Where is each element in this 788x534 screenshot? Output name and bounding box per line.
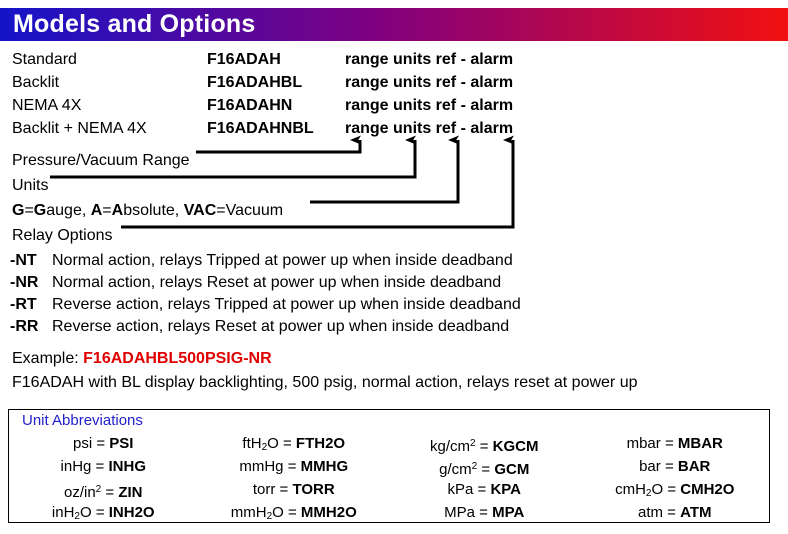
abbreviation-row: cmH2O = CMH2O — [580, 478, 771, 501]
abbreviation-equals: = — [280, 481, 289, 498]
abbreviation-row: psi = PSI — [8, 432, 199, 455]
abbreviation-row: g/cm2 = GCM — [389, 455, 580, 478]
callout-label-list: Pressure/Vacuum RangeUnitsG=Gauge, A=Abs… — [12, 148, 572, 248]
abbreviation-code: INHG — [108, 458, 146, 475]
abbreviation-equals: = — [288, 504, 297, 521]
model-row: NEMA 4XF16ADAHNrange units ref - alarm — [12, 94, 612, 117]
abbreviation-row: inHg = INHG — [8, 455, 199, 478]
example-label: Example: — [12, 350, 83, 367]
abbreviation-equals: = — [479, 504, 488, 521]
callout-row: Pressure/Vacuum Range — [12, 148, 572, 173]
relay-option-code: -NR — [10, 272, 38, 294]
model-description: Backlit + NEMA 4X — [12, 117, 147, 140]
relay-option-text: Reverse action, relays Reset at power up… — [52, 316, 509, 338]
abbreviation-row: torr = TORR — [199, 478, 390, 501]
abbreviation-code: KPA — [490, 481, 521, 498]
relay-option-row: -RTReverse action, relays Tripped at pow… — [10, 294, 710, 316]
model-row: BacklitF16ADAHBLrange units ref - alarm — [12, 71, 612, 94]
abbreviation-code: MBAR — [678, 435, 723, 452]
model-row: StandardF16ADAHrange units ref - alarm — [12, 48, 612, 71]
abbreviation-code: BAR — [678, 458, 711, 475]
abbreviation-code: GCM — [494, 461, 529, 478]
abbreviation-row: ftH2O = FTH2O — [199, 432, 390, 455]
abbreviation-equals: = — [283, 435, 292, 452]
abbreviation-row: atm = ATM — [580, 501, 771, 524]
callout-label: G=Gauge, A=Absolute, VAC=Vacuum — [12, 198, 283, 223]
abbreviation-row: kg/cm2 = KGCM — [389, 432, 580, 455]
abbreviation-unit: mbar — [627, 435, 661, 452]
example-line: Example: F16ADAHBL500PSIG-NR — [12, 350, 272, 368]
page-title: Models and Options — [13, 9, 256, 40]
abbreviation-code: MMH2O — [301, 504, 357, 521]
abbreviation-equals: = — [96, 458, 105, 475]
abbreviation-equals: = — [478, 481, 487, 498]
abbreviation-code: MPA — [492, 504, 524, 521]
model-part-number: F16ADAHBL — [207, 71, 302, 94]
model-suffix: range units ref - alarm — [345, 71, 513, 94]
model-part-number: F16ADAH — [207, 48, 281, 71]
callout-label: Units — [12, 173, 48, 198]
relay-option-code: -RT — [10, 294, 37, 316]
model-suffix: range units ref - alarm — [345, 117, 513, 140]
model-part-number: F16ADAHN — [207, 94, 292, 117]
abbreviation-unit: g/cm2 — [439, 461, 477, 478]
abbreviation-unit: cmH2O — [615, 481, 663, 498]
abbreviation-code: ZIN — [118, 484, 142, 501]
abbreviation-column: psi = PSIinHg = INHGoz/in2 = ZINinH2O = … — [8, 432, 199, 524]
abbreviation-equals: = — [665, 435, 674, 452]
relay-options-list: -NTNormal action, relays Tripped at powe… — [10, 250, 710, 338]
example-description: F16ADAH with BL display backlighting, 50… — [12, 374, 638, 392]
callout-label: Pressure/Vacuum Range — [12, 148, 190, 173]
callout-label: Relay Options — [12, 223, 113, 248]
abbreviation-row: oz/in2 = ZIN — [8, 478, 199, 501]
abbreviation-unit: atm — [638, 504, 663, 521]
abbreviation-column: ftH2O = FTH2OmmHg = MMHGtorr = TORRmmH2O… — [199, 432, 390, 524]
model-table: StandardF16ADAHrange units ref - alarmBa… — [12, 48, 612, 140]
relay-option-text: Reverse action, relays Tripped at power … — [52, 294, 521, 316]
model-suffix: range units ref - alarm — [345, 48, 513, 71]
relay-option-row: -NRNormal action, relays Reset at power … — [10, 272, 710, 294]
relay-option-row: -RRReverse action, relays Reset at power… — [10, 316, 710, 338]
callout-row: Relay Options — [12, 223, 572, 248]
abbreviation-unit: kPa — [447, 481, 473, 498]
abbreviation-code: INH2O — [109, 504, 155, 521]
model-description: Standard — [12, 48, 77, 71]
abbreviation-unit: bar — [639, 458, 661, 475]
abbreviation-equals: = — [481, 461, 490, 478]
abbreviation-row: MPa = MPA — [389, 501, 580, 524]
abbreviation-unit: inH2O — [52, 504, 92, 521]
abbreviation-equals: = — [96, 435, 105, 452]
model-row: Backlit + NEMA 4XF16ADAHNBLrange units r… — [12, 117, 612, 140]
abbreviation-row: mmH2O = MMH2O — [199, 501, 390, 524]
abbreviation-column: mbar = MBARbar = BARcmH2O = CMH2Oatm = A… — [580, 432, 771, 524]
unit-abbreviations-grid: psi = PSIinHg = INHGoz/in2 = ZINinH2O = … — [8, 432, 770, 524]
unit-abbreviations-title: Unit Abbreviations — [22, 412, 143, 429]
relay-option-text: Normal action, relays Tripped at power u… — [52, 250, 513, 272]
abbreviation-unit: inHg — [61, 458, 92, 475]
model-suffix: range units ref - alarm — [345, 94, 513, 117]
abbreviation-unit: MPa — [444, 504, 475, 521]
relay-option-code: -NT — [10, 250, 37, 272]
model-description: Backlit — [12, 71, 59, 94]
abbreviation-code: CMH2O — [680, 481, 734, 498]
abbreviation-equals: = — [665, 458, 674, 475]
abbreviation-code: KGCM — [493, 438, 539, 455]
abbreviation-row: kPa = KPA — [389, 478, 580, 501]
abbreviation-equals: = — [480, 438, 489, 455]
model-part-number: F16ADAHNBL — [207, 117, 314, 140]
abbreviation-code: MMHG — [301, 458, 349, 475]
abbreviation-unit: ftH2O — [242, 435, 278, 452]
relay-option-text: Normal action, relays Reset at power up … — [52, 272, 501, 294]
abbreviation-row: mmHg = MMHG — [199, 455, 390, 478]
callout-row: G=Gauge, A=Absolute, VAC=Vacuum — [12, 198, 572, 223]
abbreviation-unit: mmH2O — [231, 504, 284, 521]
model-description: NEMA 4X — [12, 94, 81, 117]
abbreviation-equals: = — [667, 504, 676, 521]
abbreviation-row: inH2O = INH2O — [8, 501, 199, 524]
abbreviation-code: TORR — [292, 481, 334, 498]
abbreviation-column: kg/cm2 = KGCMg/cm2 = GCMkPa = KPAMPa = M… — [389, 432, 580, 524]
abbreviation-equals: = — [667, 481, 676, 498]
abbreviation-unit: kg/cm2 — [430, 438, 476, 455]
example-part-number: F16ADAHBL500PSIG-NR — [83, 350, 271, 367]
abbreviation-code: FTH2O — [296, 435, 345, 452]
relay-option-code: -RR — [10, 316, 38, 338]
callout-row: Units — [12, 173, 572, 198]
abbreviation-unit: oz/in2 — [64, 484, 101, 501]
abbreviation-code: PSI — [109, 435, 133, 452]
abbreviation-row: bar = BAR — [580, 455, 771, 478]
abbreviation-equals: = — [105, 484, 114, 501]
abbreviation-equals: = — [288, 458, 297, 475]
abbreviation-code: ATM — [680, 504, 711, 521]
abbreviation-equals: = — [96, 504, 105, 521]
abbreviation-row: mbar = MBAR — [580, 432, 771, 455]
abbreviation-unit: mmHg — [239, 458, 283, 475]
relay-option-row: -NTNormal action, relays Tripped at powe… — [10, 250, 710, 272]
abbreviation-unit: psi — [73, 435, 92, 452]
abbreviation-unit: torr — [253, 481, 276, 498]
